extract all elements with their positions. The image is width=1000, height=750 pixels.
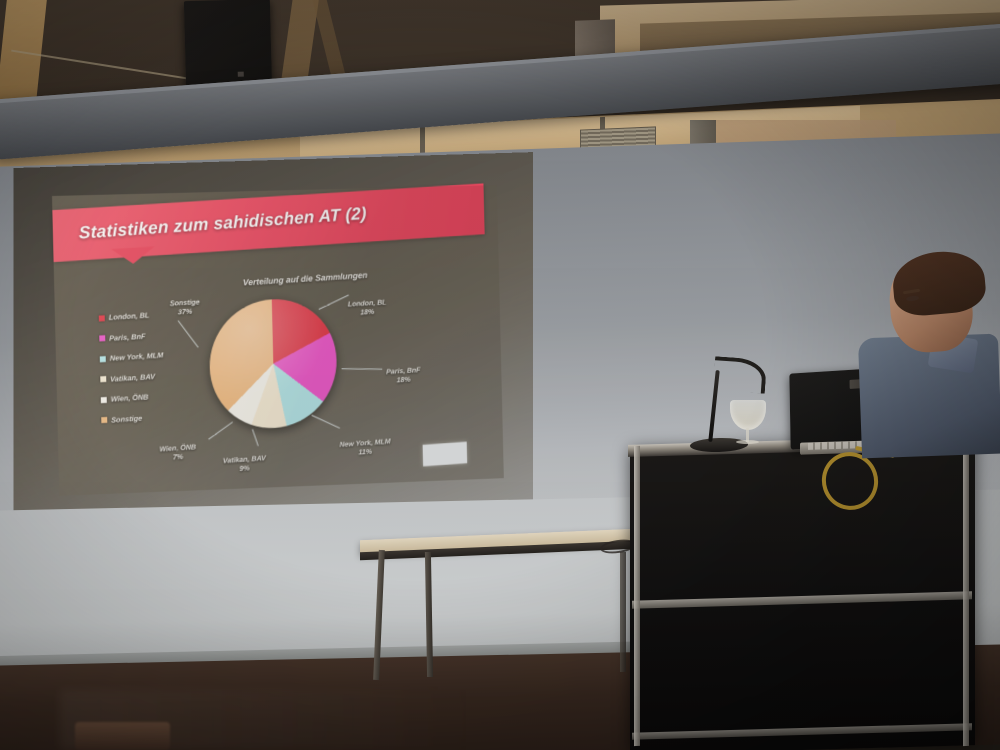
legend-item-wien: Wien, ÖNB (101, 391, 165, 404)
lecture-room-photo: Statistiken zum sahidischen AT (2) Verte… (0, 0, 1000, 750)
legend-swatch-icon (99, 315, 105, 321)
legend-label: Wien, ÖNB (111, 392, 149, 403)
legend-label: Sonstige (111, 413, 142, 424)
data-label-vatikan: Vatikan, BAV 9% (223, 453, 266, 474)
data-label-wien: Wien, ÖNB 7% (159, 442, 196, 463)
legend-label: London, BL (109, 311, 150, 322)
lectern-post (634, 446, 640, 746)
floor-object (75, 722, 170, 750)
table-leg (620, 552, 626, 672)
ceiling-speaker (184, 0, 272, 91)
leader-line-sonstige (178, 320, 199, 347)
legend-swatch-icon (101, 396, 107, 402)
legend-label: Paris, BnF (109, 331, 145, 342)
legend-label: New York, MLM (110, 351, 164, 363)
chart-legend: London, BL Paris, BnF New York, MLM Vati… (99, 310, 166, 436)
legend-item-sonstige: Sonstige (101, 412, 165, 425)
speaker-led-icon (238, 72, 244, 77)
slide-placeholder-box (423, 442, 468, 467)
legend-label: Vatikan, BAV (110, 371, 155, 383)
leader-line-paris (342, 368, 383, 369)
lectern-post (963, 446, 969, 746)
legend-item-london: London, BL (99, 310, 163, 323)
chart-subtitle: Verteilung auf die Sammlungen (193, 267, 417, 290)
legend-swatch-icon (100, 376, 106, 382)
legend-swatch-icon (100, 356, 106, 362)
title-band-notch-icon (111, 246, 155, 265)
water-glass-foot (736, 440, 759, 444)
projected-slide: Statistiken zum sahidischen AT (2) Verte… (52, 185, 504, 496)
data-label-newyork: New York, MLM 11% (339, 437, 390, 459)
legend-swatch-icon (99, 335, 105, 341)
data-label-value: 18% (386, 374, 420, 385)
data-label-london: London, BL 18% (348, 297, 387, 317)
pie-chart (208, 296, 338, 432)
pie-slices (208, 296, 338, 432)
legend-item-newyork: New York, MLM (100, 351, 164, 364)
data-label-sonstige: Sonstige 37% (170, 297, 200, 317)
legend-swatch-icon (101, 417, 107, 423)
legend-item-paris: Paris, BnF (99, 330, 163, 343)
legend-item-vatikan: Vatikan, BAV (100, 371, 164, 384)
data-label-value: 37% (170, 306, 200, 317)
data-label-paris: Paris, BnF 18% (386, 365, 421, 385)
leader-line-vatikan (252, 429, 259, 446)
